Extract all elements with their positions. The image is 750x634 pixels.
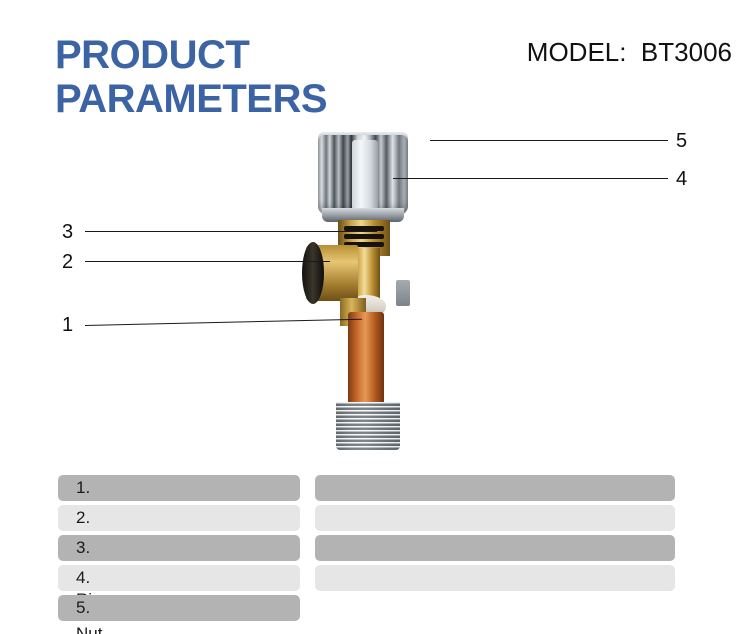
inlet-port-bore bbox=[310, 254, 340, 292]
leader-line-3 bbox=[85, 231, 377, 232]
leader-line-4 bbox=[393, 178, 668, 179]
page-title: PRODUCT PARAMETERS bbox=[55, 33, 475, 121]
legend-bar-right-4 bbox=[315, 565, 675, 591]
body-size-marking bbox=[396, 280, 410, 306]
product-parameters-page: PRODUCT PARAMETERS MODEL: BT3006 5 4 3 2… bbox=[0, 0, 750, 634]
leader-line-2 bbox=[85, 261, 330, 262]
leader-line-5 bbox=[430, 140, 668, 141]
legend-bar-right-3 bbox=[315, 535, 675, 561]
o-ring-middle bbox=[344, 234, 384, 239]
legend-bar-right-1 bbox=[315, 475, 675, 501]
threaded-outlet bbox=[336, 402, 400, 450]
callout-number-3: 3 bbox=[62, 222, 73, 242]
legend-label-5: 5. Nut bbox=[76, 595, 102, 634]
legend-bar-right-2 bbox=[315, 505, 675, 531]
callout-number-1: 1 bbox=[62, 315, 73, 335]
callout-number-2: 2 bbox=[62, 252, 73, 272]
model-label: MODEL: BT3006 bbox=[527, 37, 732, 68]
callout-number-5: 5 bbox=[676, 131, 687, 151]
handle-center-face bbox=[352, 140, 378, 210]
callout-number-4: 4 bbox=[676, 169, 687, 189]
